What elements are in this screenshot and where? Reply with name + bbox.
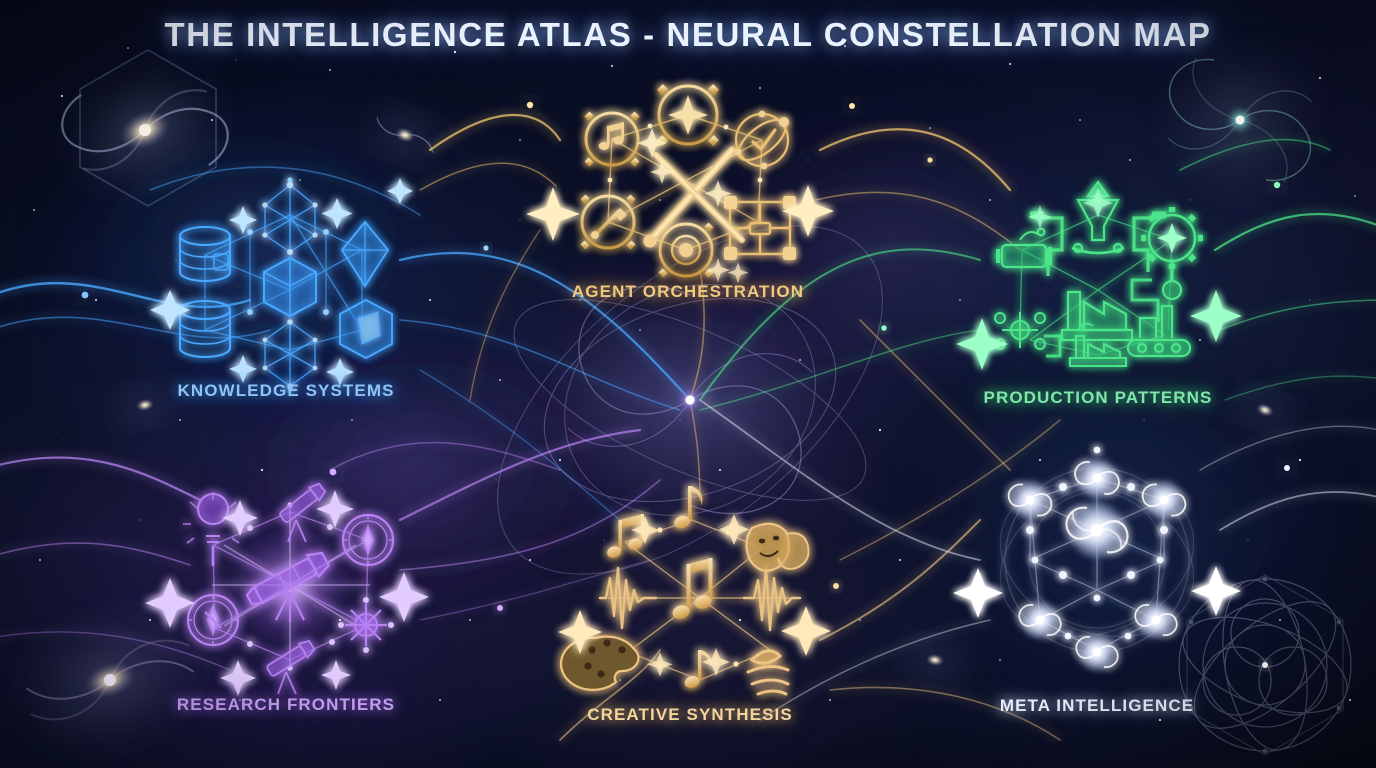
page-title: THE INTELLIGENCE ATLAS - NEURAL CONSTELL… bbox=[0, 16, 1376, 54]
cluster-label-meta-intelligence[interactable]: META INTELLIGENCE bbox=[1000, 696, 1194, 716]
cluster-label-agent-orchestration[interactable]: AGENT ORCHESTRATION bbox=[572, 282, 804, 302]
atlas-canvas: THE INTELLIGENCE ATLAS - NEURAL CONSTELL… bbox=[0, 0, 1376, 768]
cluster-label-knowledge-systems[interactable]: KNOWLEDGE SYSTEMS bbox=[177, 381, 394, 401]
cluster-label-production-patterns[interactable]: PRODUCTION PATTERNS bbox=[984, 388, 1213, 408]
cluster-label-creative-synthesis[interactable]: CREATIVE SYNTHESIS bbox=[587, 705, 793, 725]
cluster-label-research-frontiers[interactable]: RESEARCH FRONTIERS bbox=[177, 695, 395, 715]
text-layer: THE INTELLIGENCE ATLAS - NEURAL CONSTELL… bbox=[0, 0, 1376, 768]
